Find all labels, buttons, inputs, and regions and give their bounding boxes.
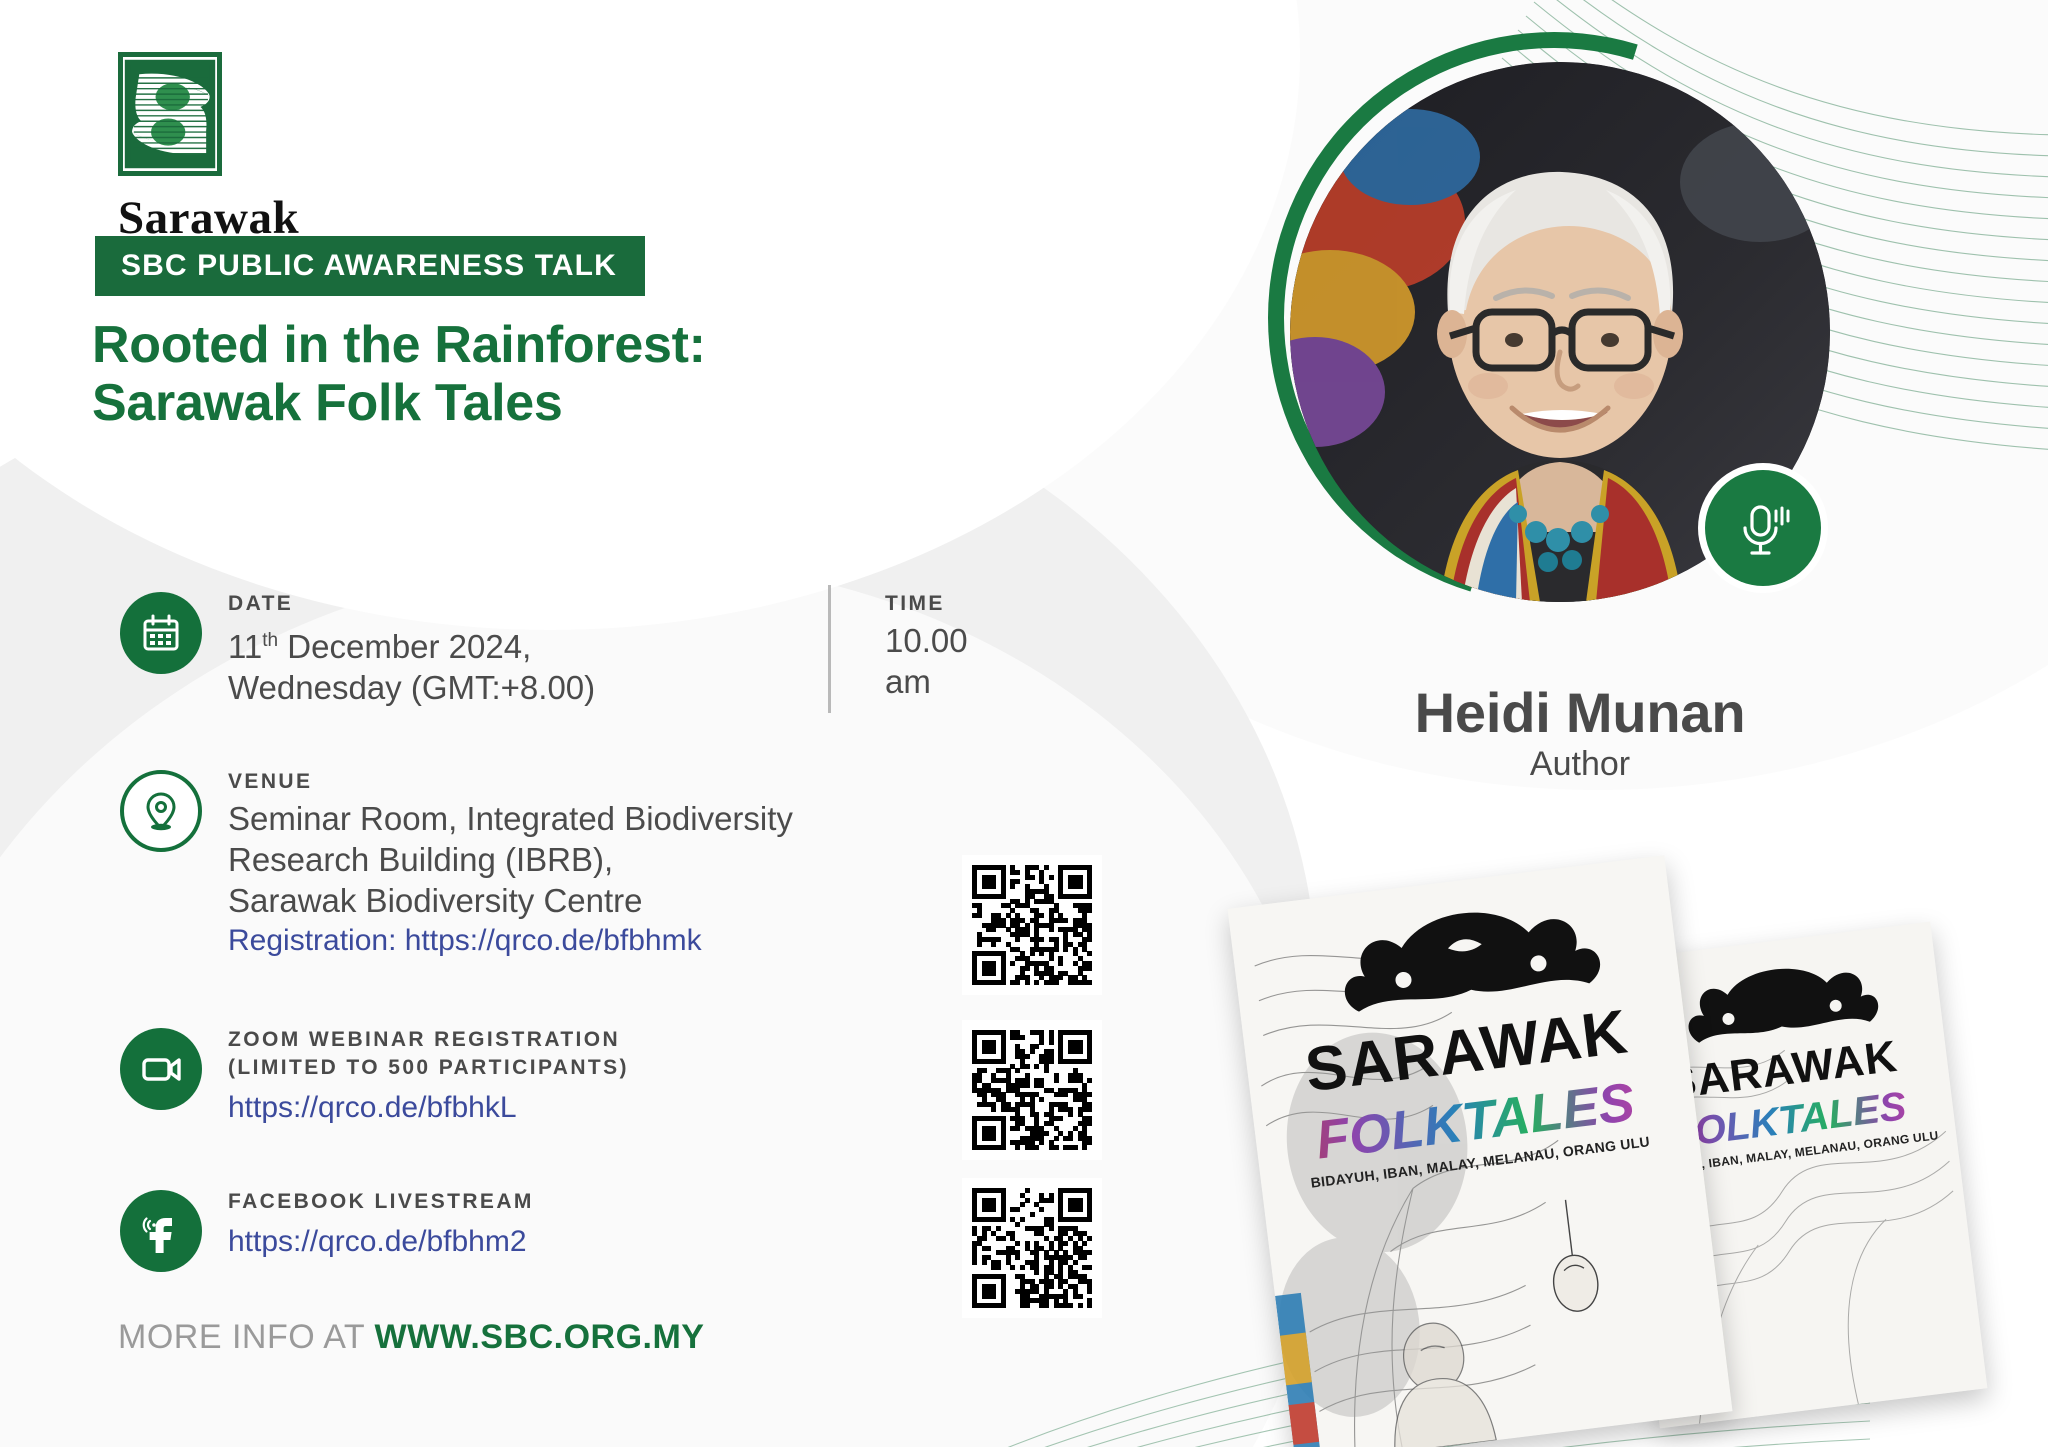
registration-qr[interactable] [962,855,1102,995]
zoom-label-line1: ZOOM WEBINAR REGISTRATION [228,1028,629,1052]
venue-label: VENUE [228,770,793,794]
section-divider [828,585,831,713]
more-info-prefix: MORE INFO AT [118,1318,365,1356]
facebook-link[interactable]: https://qrco.de/bfbhm2 [228,1222,534,1262]
speaker-name: Heidi Munan [1290,680,1870,745]
registration-link[interactable]: Registration: https://qrco.de/bfbhmk [228,921,793,961]
more-info-footer: MORE INFO AT WWW.SBC.ORG.MY [118,1318,704,1357]
date-value: 11th December 2024, [228,620,595,667]
date-day: 11 [228,628,262,665]
date-ordinal: th [262,630,278,651]
sbc-logo-icon [118,52,222,176]
zoom-link[interactable]: https://qrco.de/bfbhkL [228,1088,629,1128]
facebook-row: FACEBOOK LIVESTREAM https://qrco.de/bfbh… [120,1190,534,1272]
speaker-role: Author [1290,745,1870,784]
time-label: TIME [885,592,1000,616]
venue-line-3: Sarawak Biodiversity Centre [228,880,793,921]
facebook-label: FACEBOOK LIVESTREAM [228,1190,534,1214]
page-title: Rooted in the Rainforest: Sarawak Folk T… [92,316,892,432]
book-covers: SARAWAK FOLKTALES BIDAYUH, IBAN, MALAY, … [1230,860,2048,1447]
title-line-1: Rooted in the Rainforest: [92,316,706,374]
zoom-label-line2: (LIMITED TO 500 PARTICIPANTS) [228,1056,629,1080]
awareness-talk-banner: SBC PUBLIC AWARENESS TALK [95,236,645,296]
facebook-live-icon [120,1190,202,1272]
venue-line-1: Seminar Room, Integrated Biodiversity [228,798,793,839]
date-label: DATE [228,592,595,616]
location-pin-icon [120,770,202,852]
video-camera-icon [120,1028,202,1110]
zoom-row: ZOOM WEBINAR REGISTRATION (LIMITED TO 50… [120,1028,629,1128]
facebook-qr[interactable] [962,1178,1102,1318]
venue-row: VENUE Seminar Room, Integrated Biodivers… [120,770,793,961]
title-line-2: Sarawak Folk Tales [92,374,892,432]
speaker-portrait-block [1290,40,1860,610]
venue-line-2: Research Building (IBRB), [228,839,793,880]
website-link[interactable]: WWW.SBC.ORG.MY [375,1318,705,1356]
time-value: 10.00 am [885,620,1000,702]
book-cover-front: SARAWAK FOLKTALES BIDAYUH, IBAN, MALAY, … [1228,855,1733,1447]
microphone-icon [1705,470,1821,586]
event-poster: Sarawak Biodiversity Centre SBC PUBLIC A… [0,0,2048,1447]
date-rest: December 2024, [278,628,531,665]
zoom-qr[interactable] [962,1020,1102,1160]
left-content-column: Sarawak Biodiversity Centre SBC PUBLIC A… [0,0,1000,1447]
time-block: TIME 10.00 am [885,592,1000,702]
calendar-icon [120,592,202,674]
date-row: DATE 11th December 2024, Wednesday (GMT:… [120,592,595,708]
date-value-line2: Wednesday (GMT:+8.00) [228,667,595,708]
